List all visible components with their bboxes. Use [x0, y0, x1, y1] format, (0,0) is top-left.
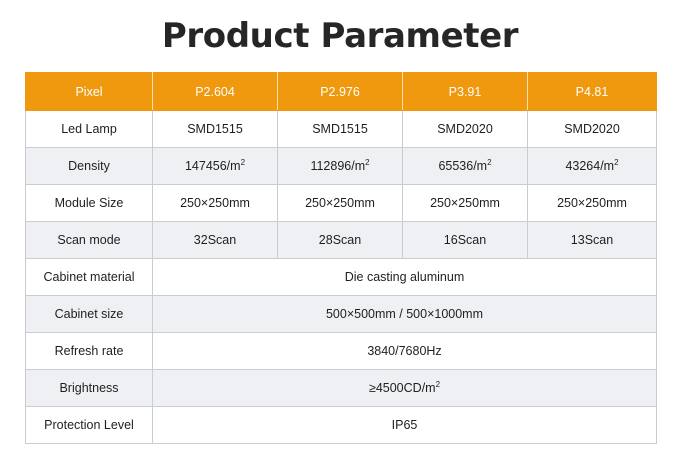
cell-scan-mode-p391: 16Scan: [403, 222, 528, 259]
cell-text: 43264/m: [565, 159, 614, 173]
table-row: Protection Level IP65: [26, 407, 657, 444]
cell-led-lamp-p391: SMD2020: [403, 111, 528, 148]
row-label-refresh-rate: Refresh rate: [26, 333, 153, 370]
table-header: Pixel P2.604 P2.976 P3.91 P4.81: [26, 73, 657, 111]
table-row: Refresh rate 3840/7680Hz: [26, 333, 657, 370]
row-label-protection-level: Protection Level: [26, 407, 153, 444]
row-label-density: Density: [26, 148, 153, 185]
cell-brightness-value: ≥4500CD/m2: [153, 370, 657, 407]
cell-refresh-rate-value: 3840/7680Hz: [153, 333, 657, 370]
column-header-p2976: P2.976: [278, 73, 403, 111]
superscript: 2: [365, 158, 369, 167]
table-row: Density 147456/m2 112896/m2 65536/m2 432…: [26, 148, 657, 185]
product-parameter-table: Pixel P2.604 P2.976 P3.91 P4.81 Led Lamp…: [25, 72, 657, 444]
cell-led-lamp-p481: SMD2020: [528, 111, 657, 148]
cell-density-p2604: 147456/m2: [153, 148, 278, 185]
cell-led-lamp-p2604: SMD1515: [153, 111, 278, 148]
table-row: Cabinet material Die casting aluminum: [26, 259, 657, 296]
cell-text: 147456/m: [185, 159, 241, 173]
cell-cabinet-material-value: Die casting aluminum: [153, 259, 657, 296]
column-header-p2604: P2.604: [153, 73, 278, 111]
cell-density-p391: 65536/m2: [403, 148, 528, 185]
table-row: Led Lamp SMD1515 SMD1515 SMD2020 SMD2020: [26, 111, 657, 148]
table-row: Scan mode 32Scan 28Scan 16Scan 13Scan: [26, 222, 657, 259]
column-header-p391: P3.91: [403, 73, 528, 111]
spec-table-container: Pixel P2.604 P2.976 P3.91 P4.81 Led Lamp…: [25, 72, 656, 444]
row-label-module-size: Module Size: [26, 185, 153, 222]
row-label-scan-mode: Scan mode: [26, 222, 153, 259]
column-header-p481: P4.81: [528, 73, 657, 111]
cell-module-size-p481: 250×250mm: [528, 185, 657, 222]
cell-scan-mode-p2976: 28Scan: [278, 222, 403, 259]
cell-scan-mode-p2604: 32Scan: [153, 222, 278, 259]
table-header-row: Pixel P2.604 P2.976 P3.91 P4.81: [26, 73, 657, 111]
superscript: 2: [436, 380, 440, 389]
superscript: 2: [487, 158, 491, 167]
column-header-pixel: Pixel: [26, 73, 153, 111]
cell-density-p481: 43264/m2: [528, 148, 657, 185]
row-label-brightness: Brightness: [26, 370, 153, 407]
row-label-cabinet-material: Cabinet material: [26, 259, 153, 296]
cell-module-size-p2604: 250×250mm: [153, 185, 278, 222]
cell-led-lamp-p2976: SMD1515: [278, 111, 403, 148]
cell-module-size-p391: 250×250mm: [403, 185, 528, 222]
table-row: Cabinet size 500×500mm / 500×1000mm: [26, 296, 657, 333]
cell-scan-mode-p481: 13Scan: [528, 222, 657, 259]
row-label-cabinet-size: Cabinet size: [26, 296, 153, 333]
cell-text: 65536/m: [438, 159, 487, 173]
cell-density-p2976: 112896/m2: [278, 148, 403, 185]
cell-module-size-p2976: 250×250mm: [278, 185, 403, 222]
row-label-led-lamp: Led Lamp: [26, 111, 153, 148]
superscript: 2: [614, 158, 618, 167]
cell-cabinet-size-value: 500×500mm / 500×1000mm: [153, 296, 657, 333]
page-title: Product Parameter: [0, 16, 680, 56]
cell-protection-level-value: IP65: [153, 407, 657, 444]
table-row: Brightness ≥4500CD/m2: [26, 370, 657, 407]
table-row: Module Size 250×250mm 250×250mm 250×250m…: [26, 185, 657, 222]
table-body: Led Lamp SMD1515 SMD1515 SMD2020 SMD2020…: [26, 111, 657, 444]
product-parameter-page: Product Parameter Pixel P2.604 P2.976 P3…: [0, 0, 680, 476]
cell-text: ≥4500CD/m: [369, 381, 436, 395]
superscript: 2: [241, 158, 245, 167]
cell-text: 112896/m: [310, 159, 365, 173]
